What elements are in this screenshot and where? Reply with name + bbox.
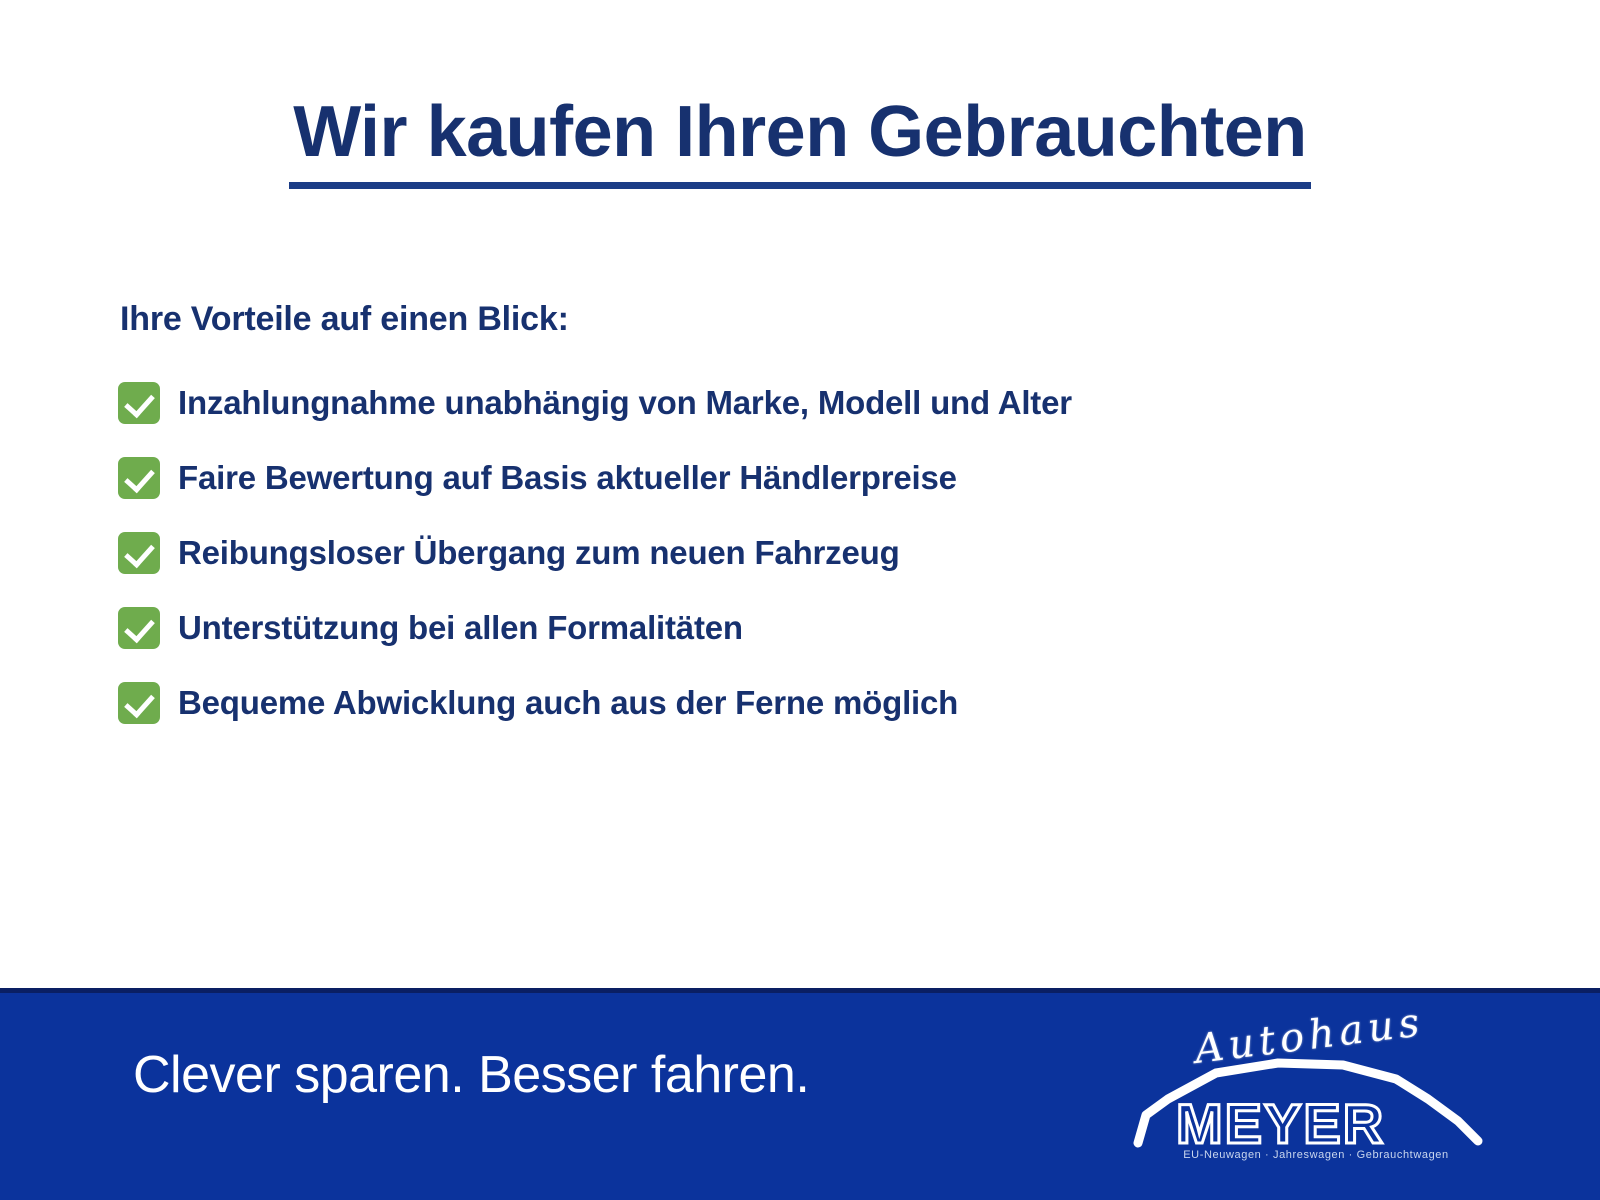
list-item-label: Bequeme Abwicklung auch aus der Ferne mö… (178, 685, 958, 721)
list-item: Faire Bewertung auf Basis aktueller Händ… (118, 450, 1538, 506)
green-check-icon (118, 382, 160, 424)
logo-name-text: MEYER (1176, 1091, 1385, 1156)
list-item-label: Unterstützung bei allen Formalitäten (178, 610, 743, 646)
list-item: Inzahlungnahme unabhängig von Marke, Mod… (118, 375, 1538, 431)
advantages-heading: Ihre Vorteile auf einen Blick: (120, 300, 569, 339)
logo-tagline: EU-Neuwagen · Jahreswagen · Gebrauchtwag… (1156, 1149, 1476, 1161)
list-item: Bequeme Abwicklung auch aus der Ferne mö… (118, 675, 1538, 731)
list-item-label: Faire Bewertung auf Basis aktueller Händ… (178, 460, 957, 496)
advantages-list: Inzahlungnahme unabhängig von Marke, Mod… (118, 375, 1538, 750)
footer-banner: Clever sparen. Besser fahren. Autohaus M… (0, 988, 1600, 1200)
dealer-logo: Autohaus MEYER EU-Neuwagen · Jahreswagen… (1128, 1003, 1488, 1173)
green-check-icon (118, 457, 160, 499)
footer-slogan: Clever sparen. Besser fahren. (133, 1045, 809, 1105)
green-check-icon (118, 532, 160, 574)
list-item: Unterstützung bei allen Formalitäten (118, 600, 1538, 656)
page-title: Wir kaufen Ihren Gebrauchten (289, 96, 1311, 189)
page-title-block: Wir kaufen Ihren Gebrauchten (0, 96, 1600, 189)
list-item-label: Inzahlungnahme unabhängig von Marke, Mod… (178, 385, 1072, 421)
green-check-icon (118, 682, 160, 724)
list-item-label: Reibungsloser Übergang zum neuen Fahrzeu… (178, 535, 900, 571)
green-check-icon (118, 607, 160, 649)
advert-page: Wir kaufen Ihren Gebrauchten Ihre Vortei… (0, 0, 1600, 1200)
list-item: Reibungsloser Übergang zum neuen Fahrzeu… (118, 525, 1538, 581)
